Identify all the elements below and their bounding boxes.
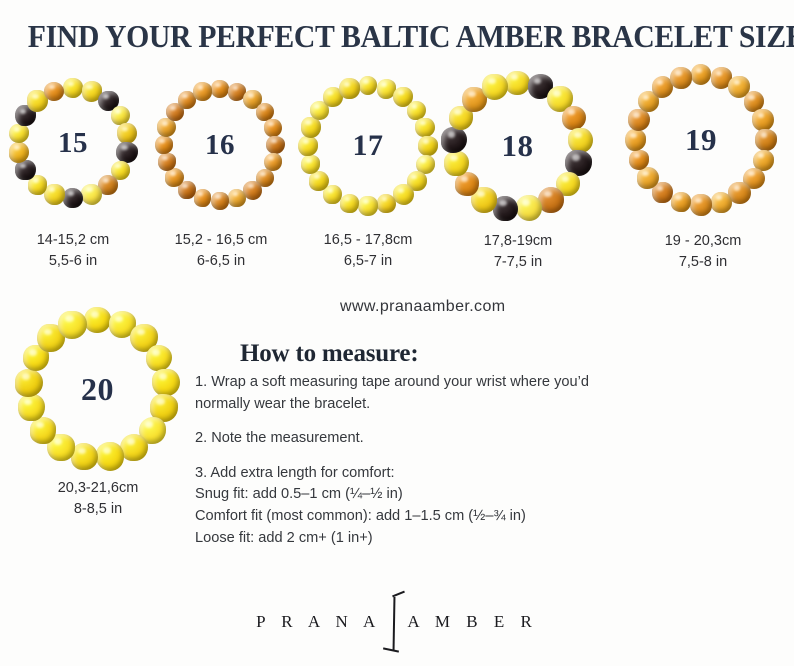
bracelet-size-number: 18 <box>440 70 595 222</box>
bracelet-size-number: 15 <box>8 78 138 208</box>
bracelet-caption-19: 19 - 20,3cm 7,5-8 in <box>628 231 778 272</box>
bracelet-ring-16: 16 <box>155 80 285 210</box>
caption-cm: 14-15,2 cm <box>3 230 143 251</box>
step-line: 3. Add extra length for comfort: <box>195 463 665 485</box>
caption-cm: 15,2 - 16,5 cm <box>148 230 294 251</box>
bracelet-ring-17: 17 <box>298 76 438 216</box>
bracelet-size-number: 19 <box>625 64 777 216</box>
step-line: 2. Note the measurement. <box>195 428 665 450</box>
step-line-loose: Loose fit: add 2 cm+ (1 in+) <box>195 528 665 550</box>
bracelet-caption-18: 17,8-19cm 7-7,5 in <box>448 231 588 272</box>
bracelet-size-number: 16 <box>155 80 285 210</box>
bracelet-caption-16: 15,2 - 16,5 cm 6-6,5 in <box>148 230 294 271</box>
step-line: normally wear the bracelet. <box>195 394 665 416</box>
bracelet-ring-19: 19 <box>625 64 777 216</box>
step-line: 1. Wrap a soft measuring tape around you… <box>195 372 665 394</box>
caption-in: 6,5-7 in <box>293 251 443 272</box>
step-line-comfort: Comfort fit (most common): add 1–1.5 cm … <box>195 506 665 528</box>
howto-step-1: 1. Wrap a soft measuring tape around you… <box>195 372 665 415</box>
howto-steps: 1. Wrap a soft measuring tape around you… <box>195 372 665 562</box>
caption-in: 5,5-6 in <box>3 251 143 272</box>
caption-in: 6-6,5 in <box>148 251 294 272</box>
bracelet-size-number: 20 <box>15 305 180 473</box>
howto-step-2: 2. Note the measurement. <box>195 428 665 450</box>
bracelet-caption-17: 16,5 - 17,8cm 6,5-7 in <box>293 230 443 271</box>
size-guide-page: FIND YOUR PERFECT BALTIC AMBER BRACELET … <box>0 0 794 666</box>
brand-logo: P R A N AA M B E R <box>0 612 794 632</box>
bracelet-caption-15: 14-15,2 cm 5,5-6 in <box>3 230 143 271</box>
brand-name-right: A M B E R <box>407 612 538 631</box>
bracelet-caption-20: 20,3-21,6cm 8-8,5 in <box>18 478 178 519</box>
bracelet-ring-15: 15 <box>8 78 138 208</box>
caption-in: 7,5-8 in <box>628 252 778 273</box>
bracelet-size-number: 17 <box>298 76 438 216</box>
caption-in: 7-7,5 in <box>448 252 588 273</box>
howto-step-3: 3. Add extra length for comfort: Snug fi… <box>195 463 665 549</box>
caption-in: 8-8,5 in <box>18 499 178 520</box>
caption-cm: 19 - 20,3cm <box>628 231 778 252</box>
bracelet-ring-20: 20 <box>15 305 180 473</box>
bracelet-ring-18: 18 <box>440 70 595 222</box>
website-url[interactable]: www.pranaamber.com <box>340 298 506 316</box>
caption-cm: 17,8-19cm <box>448 231 588 252</box>
step-line-snug: Snug fit: add 0.5–1 cm (¼–½ in) <box>195 484 665 506</box>
howto-heading: How to measure: <box>240 340 418 368</box>
brand-name-left: P R A N A <box>256 612 381 631</box>
caption-cm: 20,3-21,6cm <box>18 478 178 499</box>
page-title: FIND YOUR PERFECT BALTIC AMBER BRACELET … <box>28 18 766 55</box>
brand-divider-icon <box>381 623 407 624</box>
caption-cm: 16,5 - 17,8cm <box>293 230 443 251</box>
